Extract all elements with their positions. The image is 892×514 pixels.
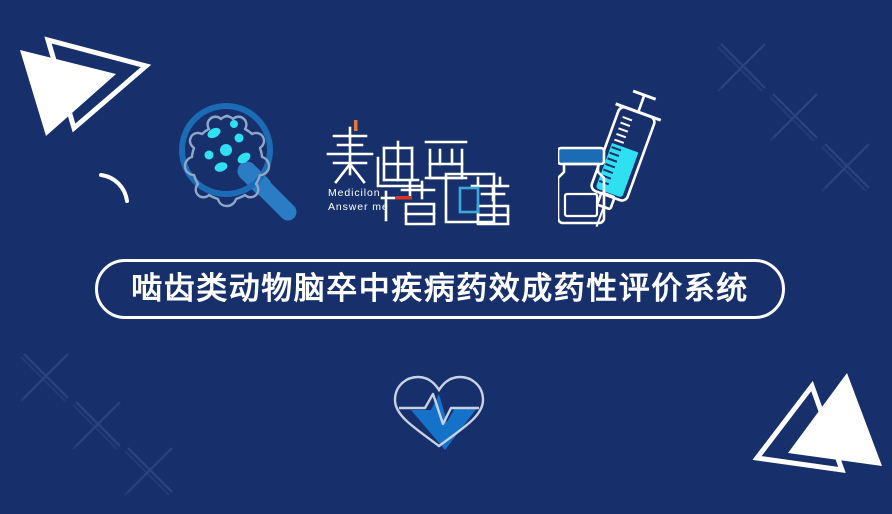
syringe-vial-icon	[558, 82, 668, 233]
logo-accent-orange	[354, 120, 358, 131]
arc-decoration	[95, 165, 143, 218]
x-mark-cluster-top-right	[715, 22, 875, 207]
logo-glyph-di	[378, 142, 422, 186]
logo-english-line-1: Medicilon	[328, 186, 389, 200]
logo-hui-inner-square	[460, 188, 478, 212]
magnifier-handle-shape	[247, 171, 288, 212]
syringe-graduations	[614, 117, 632, 143]
x-mark-cluster-bottom-left	[18, 340, 178, 514]
decorative-triangles-bottom-right	[742, 358, 887, 508]
vial-cap	[558, 148, 604, 164]
logo-accent-red	[396, 196, 412, 200]
logo-english-line-2: Answer me	[328, 200, 389, 214]
logo-glyph-mei	[328, 128, 372, 182]
poster-canvas: Medicilon Answer me 啮齿类动物脑卒中疾病药效成药性评价系统	[0, 0, 892, 514]
magnifier-virus-icon	[176, 100, 304, 227]
syringe-plunger-rod	[638, 95, 644, 112]
decorative-triangles-top-left	[12, 18, 162, 148]
brand-logo: Medicilon Answer me	[322, 112, 514, 230]
logo-glyph-qing	[382, 182, 434, 224]
logo-glyph-xi	[426, 142, 466, 178]
page-title: 啮齿类动物脑卒中疾病药效成药性评价系统	[131, 274, 749, 305]
vial-label	[565, 194, 597, 216]
heart-pulse-icon	[385, 368, 493, 459]
logo-english-text: Medicilon Answer me	[328, 186, 389, 214]
title-pill: 啮齿类动物脑卒中疾病药效成药性评价系统	[95, 259, 785, 319]
